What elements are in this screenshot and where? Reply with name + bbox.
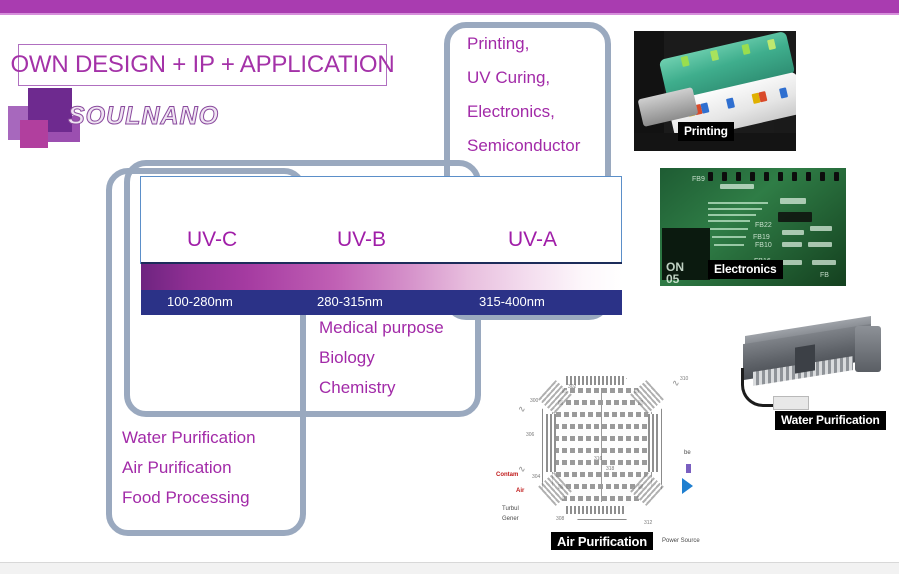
list-item: Air Purification [122, 458, 256, 478]
list-item: Water Purification [122, 428, 256, 448]
page-title: OWN DESIGN + IP + APPLICATION [10, 51, 394, 79]
air-label-be: be [684, 450, 691, 456]
title-box: OWN DESIGN + IP + APPLICATION [18, 44, 387, 86]
top-purple-bar [0, 0, 899, 13]
bottom-status-bar [0, 562, 899, 574]
air-label-generator: Gener [502, 516, 519, 522]
spectrum-gradient [141, 262, 622, 292]
air-label-contaminated: Contam [496, 472, 518, 478]
caption-electronics: Electronics [708, 260, 783, 279]
list-uvb-applications: Medical purpose Biology Chemistry [319, 318, 444, 408]
photo-water-purification: Water Purification [733, 312, 890, 434]
top-bar-edge [0, 13, 899, 15]
range-uvb: 280-315nm [317, 294, 383, 309]
list-item: Biology [319, 348, 444, 368]
list-item: Chemistry [319, 378, 444, 398]
uv-spectrum: 100-280nm 280-315nm 315-400nm [141, 262, 622, 315]
lamp-junction-box [795, 344, 815, 373]
list-item: Electronics, [467, 102, 580, 122]
list-item: UV Curing, [467, 68, 580, 88]
list-item: Semiconductor [467, 136, 580, 156]
photo-air-purification: ∿ ∿ ∿ 300 302 310 306 304 308 312 316 31… [494, 370, 709, 550]
slide-canvas: OWN DESIGN + IP + APPLICATION SOULNANO U… [0, 0, 899, 574]
range-uva: 315-400nm [479, 294, 545, 309]
list-item: Food Processing [122, 488, 256, 508]
air-label-turbulence: Turbul [502, 506, 519, 512]
caption-water-purification: Water Purification [775, 411, 886, 430]
list-uvc-applications: Water Purification Air Purification Food… [122, 428, 256, 518]
lamp-end-cap [855, 326, 881, 372]
logo: SOULNANO [8, 88, 238, 150]
caption-air-purification: Air Purification [551, 532, 653, 550]
caption-printing: Printing [678, 122, 734, 141]
list-item: Printing, [467, 34, 580, 54]
photo-electronics: FB22 FB19 FB10 FB16 FB9 FB ON 05 Electro… [660, 168, 846, 286]
power-plug [773, 396, 809, 410]
brand-name: SOULNANO [68, 102, 219, 131]
logo-square-magenta [20, 120, 48, 148]
air-label-power-source: Power Source [662, 538, 700, 544]
label-uvc: UV-C [187, 228, 237, 252]
air-label-air: Air [516, 488, 524, 494]
spectrum-range-band: 100-280nm 280-315nm 315-400nm [141, 290, 622, 315]
label-uvb: UV-B [337, 228, 386, 252]
range-uvc: 100-280nm [167, 294, 233, 309]
photo-printing: Printing [634, 31, 796, 151]
list-item: Medical purpose [319, 318, 444, 338]
list-uva-applications: Printing, UV Curing, Electronics, Semico… [467, 34, 580, 170]
label-uva: UV-A [508, 228, 557, 252]
